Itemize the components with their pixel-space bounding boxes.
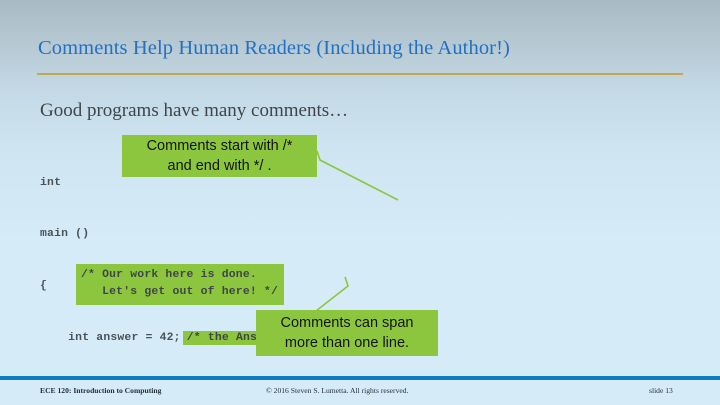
code-line-2: main (): [40, 226, 343, 243]
title-underline-rule: [37, 73, 683, 75]
code-line-1: int: [40, 175, 343, 192]
footer-course-label: ECE 120: Introduction to Computing: [40, 386, 161, 395]
callout-multiline-line2: more than one line.: [285, 333, 409, 353]
footer-copyright-label: © 2016 Steven S. Lumetta. All rights res…: [266, 386, 408, 395]
footer-slide-number: slide 13: [649, 386, 673, 395]
code-declaration-text: int answer = 42;: [40, 332, 181, 344]
callout-multiline-line1: Comments can span: [281, 313, 414, 333]
multiline-comment-highlight: /* Our work here is done. Let's get out …: [76, 264, 284, 305]
subtitle: Good programs have many comments…: [40, 100, 348, 122]
callout-comment-syntax-line1: Comments start with /*: [147, 136, 293, 156]
callout-comment-syntax-line2: and end with */ .: [168, 156, 272, 176]
callout-comment-syntax: Comments start with /* and end with */ .: [122, 135, 317, 177]
page-title: Comments Help Human Readers (Including t…: [38, 37, 698, 60]
slide-canvas: Comments Help Human Readers (Including t…: [0, 0, 720, 405]
callout-multiline: Comments can span more than one line.: [256, 310, 438, 356]
footer-divider-bar: [0, 376, 720, 380]
